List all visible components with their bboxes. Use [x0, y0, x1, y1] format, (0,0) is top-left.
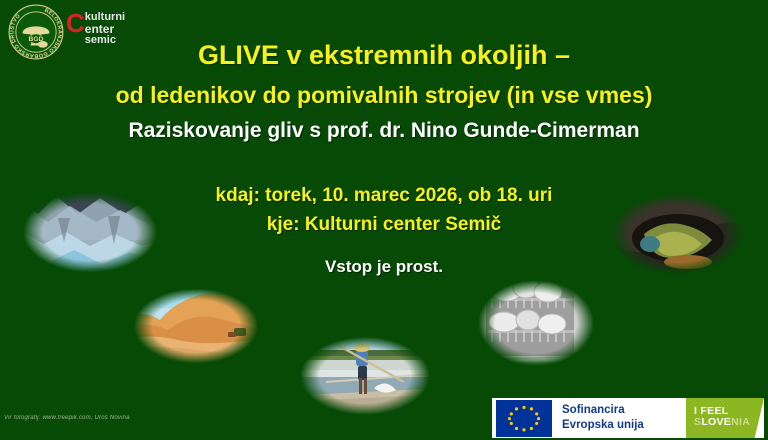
- slovenia-letters-nia: NIA: [731, 416, 750, 428]
- headline-line-3-speaker: Raziskovanje gliv s prof. dr. Nino Gunde…: [0, 119, 768, 143]
- i-feel-slovenia-logo: I FEEL SLOVENIA: [686, 398, 764, 438]
- funding-bar: Sofinancira Evropska unija I FEEL SLOVEN…: [492, 398, 764, 438]
- glacier-photo: [4, 180, 176, 284]
- event-poster: BELOKRANJSKO GOBARSKO DRUSTVO BGD C kult…: [0, 0, 768, 440]
- kcs-c-mark: C: [66, 12, 84, 34]
- desert-photo: [116, 278, 276, 374]
- cave-photo: [592, 182, 762, 286]
- european-union-flag: [496, 400, 552, 437]
- dishwasher-photo: [462, 268, 610, 378]
- headline-line-1: GLIVE v ekstremnih okoljih –: [0, 40, 768, 71]
- slovenia-word-love: LOVE: [701, 416, 731, 428]
- funding-line-1: Sofinancira: [562, 403, 686, 418]
- funding-line-2: Evropska unija: [562, 418, 686, 433]
- photo-credit: Vir fotografij: www.freepik.com, Uroš No…: [4, 415, 130, 421]
- saltpan-photo: [282, 326, 448, 426]
- headline-line-2: od ledenikov do pomivalnih strojev (in v…: [0, 82, 768, 109]
